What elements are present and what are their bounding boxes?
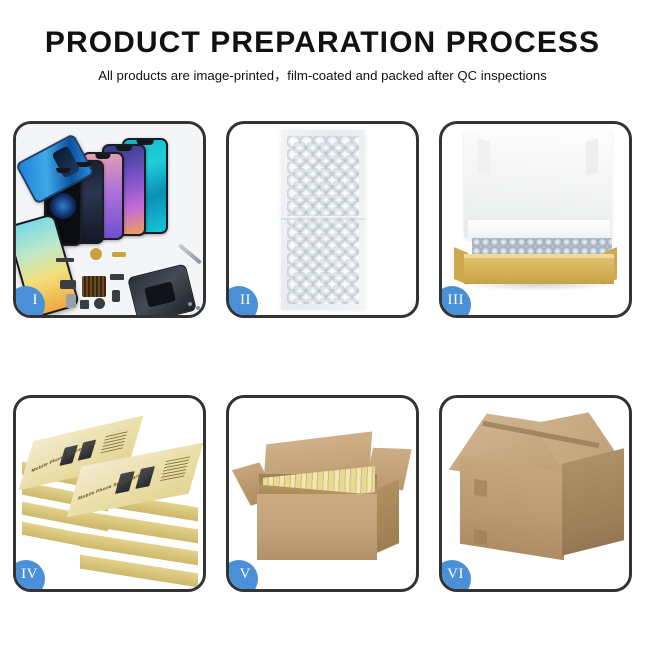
bracket-part-icon [112, 252, 126, 257]
lid-flap-right [586, 138, 598, 175]
logic-board-part-icon [82, 276, 106, 297]
screw-part-icon [188, 302, 192, 306]
flex-cable-part-icon [56, 258, 74, 262]
microphone-part-icon [112, 290, 120, 302]
camera-module-part-icon [60, 280, 76, 289]
sim-tray-part-icon [66, 294, 76, 308]
page-subtitle: All products are image-printed，film-coat… [0, 69, 645, 82]
step-3-image [442, 124, 629, 315]
step-2-image [229, 124, 416, 315]
process-step-panel-3[interactable]: III [439, 121, 632, 318]
sealed-carton-side [562, 448, 624, 555]
bubble-wrap-sheet-icon [281, 130, 365, 310]
carton-side-panel [377, 479, 399, 553]
sealed-carton-front [460, 456, 564, 560]
bubble-pattern-overlay [293, 142, 359, 304]
speaker-coil-part-icon [90, 248, 102, 260]
screw-part-icon [196, 306, 200, 310]
carton-front-panel [257, 494, 377, 560]
vibrator-part-icon [80, 300, 89, 309]
page-header: PRODUCT PREPARATION PROCESS All products… [0, 0, 645, 82]
spec-text-lines [160, 456, 190, 481]
connector-part-icon [110, 274, 124, 280]
step-4-image: Mobile Phone Spare Parts Mobile Phone Sp… [16, 398, 203, 589]
page-title: PRODUCT PREPARATION PROCESS [0, 28, 645, 58]
box-label-text: Mobile Phone Spare Parts [78, 472, 142, 501]
button-part-icon [94, 298, 105, 309]
process-step-panel-1[interactable]: I [13, 121, 206, 318]
step-6-image [442, 398, 629, 589]
box-shadow [466, 284, 612, 291]
process-step-grid: I II III [13, 121, 632, 592]
process-step-panel-4[interactable]: Mobile Phone Spare Parts Mobile Phone Sp… [13, 395, 206, 592]
process-step-panel-2[interactable]: II [226, 121, 419, 318]
process-step-panel-5[interactable]: V [226, 395, 419, 592]
step-5-image [229, 398, 416, 589]
inner-box-front-icon [464, 258, 614, 284]
lid-flap-left [478, 138, 490, 175]
bubble-wrap-seam [281, 216, 365, 220]
process-step-panel-6[interactable]: VI [439, 395, 632, 592]
carton-handle-tab [474, 529, 487, 545]
step-1-image [16, 124, 203, 315]
spec-text-lines [100, 429, 128, 453]
carton-handle-tab [474, 479, 487, 497]
kraft-box-stack-icon: Mobile Phone Spare Parts Mobile Phone Sp… [18, 412, 203, 582]
